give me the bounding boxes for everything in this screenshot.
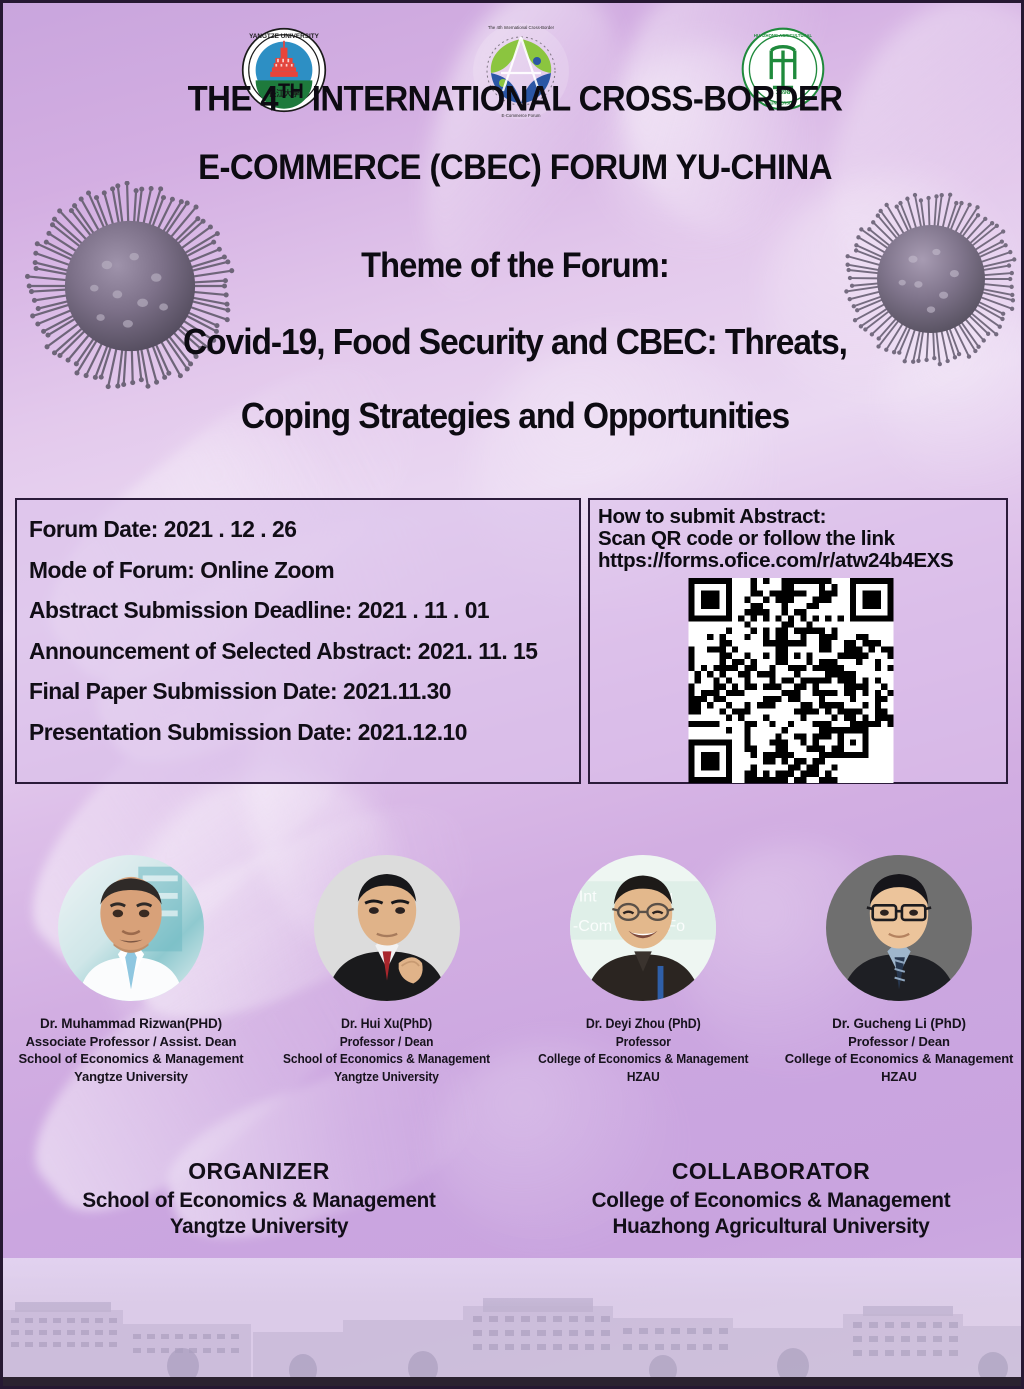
portrait-gucheng-li bbox=[826, 855, 972, 1001]
svg-text:YANGTZE UNIVERSITY: YANGTZE UNIVERSITY bbox=[249, 33, 319, 40]
organizer-collaborator-row: ORGANIZER School of Economics & Manageme… bbox=[3, 1158, 1024, 1240]
title-line-1-pre: THE 4 bbox=[188, 80, 278, 119]
speaker-name: Dr. Hui Xu(PhD) bbox=[283, 1015, 490, 1033]
speaker-bio: Dr. Deyi Zhou (PhD) Professor College of… bbox=[529, 1015, 758, 1085]
speaker-department: College of Economics & Management bbox=[785, 1050, 1014, 1067]
speaker-card: Int al -Com Fo bbox=[515, 855, 771, 1085]
bottom-strip bbox=[3, 1377, 1024, 1386]
mode-of-forum: Mode of Forum: Online Zoom bbox=[29, 559, 563, 583]
theme-block: Theme of the Forum: Covid-19, Food Secur… bbox=[3, 246, 1024, 434]
organizer-block: ORGANIZER School of Economics & Manageme… bbox=[3, 1158, 515, 1240]
submission-qr-box: How to submit Abstract: Scan QR code or … bbox=[588, 498, 1008, 784]
forum-date: Forum Date: 2021 . 12 . 26 bbox=[29, 518, 563, 542]
speaker-bio: Dr. Hui Xu(PhD) Professor / Dean School … bbox=[274, 1015, 499, 1085]
speaker-organization: HZAU bbox=[785, 1068, 1014, 1085]
campus-footer bbox=[3, 1258, 1024, 1386]
title-line-1: THE 4TH INTERNATIONAL CROSS-BORDER bbox=[34, 81, 997, 117]
title-line-1-post: INTERNATIONAL CROSS-BORDER bbox=[303, 80, 842, 119]
final-paper-submission-date: Final Paper Submission Date: 2021.11.30 bbox=[29, 680, 563, 704]
speaker-card: Dr. Gucheng Li (PhD) Professor / Dean Co… bbox=[771, 855, 1024, 1085]
speaker-role: Associate Professor / Assist. Dean bbox=[18, 1033, 243, 1050]
speakers-row: Dr. Muhammad Rizwan(PHD) Associate Profe… bbox=[3, 855, 1024, 1085]
qr-instruction-line-2: Scan QR code or follow the link bbox=[598, 528, 1006, 550]
collaborator-block: COLLABORATOR College of Economics & Mana… bbox=[515, 1158, 1024, 1240]
svg-text:Int: Int bbox=[579, 888, 597, 906]
theme-line-1: Covid-19, Food Security and CBEC: Threat… bbox=[39, 324, 991, 360]
organizer-line-2: Yangtze University bbox=[13, 1214, 505, 1240]
speaker-organization: Yangtze University bbox=[283, 1068, 490, 1085]
speaker-bio: Dr. Gucheng Li (PhD) Professor / Dean Co… bbox=[785, 1015, 1014, 1085]
svg-text:The 4th International Cross-Bo: The 4th International Cross-Border bbox=[488, 25, 555, 30]
announcement-selected-abstract: Announcement of Selected Abstract: 2021.… bbox=[29, 640, 563, 664]
theme-line-2: Coping Strategies and Opportunities bbox=[39, 398, 991, 434]
speaker-role: Professor bbox=[538, 1033, 748, 1050]
speaker-role: Professor / Dean bbox=[785, 1033, 1014, 1050]
portrait-muhammad-rizwan bbox=[58, 855, 204, 1001]
speaker-name: Dr. Muhammad Rizwan(PHD) bbox=[18, 1015, 243, 1033]
speaker-department: School of Economics & Management bbox=[283, 1050, 490, 1067]
presentation-submission-date: Presentation Submission Date: 2021.12.10 bbox=[29, 721, 563, 745]
speaker-name: Dr. Deyi Zhou (PhD) bbox=[538, 1015, 748, 1033]
title-ordinal-suffix: TH bbox=[278, 80, 303, 103]
speaker-name: Dr. Gucheng Li (PhD) bbox=[785, 1015, 1014, 1033]
collaborator-line-1: College of Economics & Management bbox=[525, 1188, 1017, 1214]
svg-text:HUAZHONG AGRICULTURAL: HUAZHONG AGRICULTURAL bbox=[754, 33, 813, 38]
footer-fade bbox=[3, 1258, 1024, 1304]
abstract-submission-deadline: Abstract Submission Deadline: 2021 . 11 … bbox=[29, 599, 563, 623]
speaker-department: College of Economics & Management bbox=[538, 1050, 748, 1067]
organizer-line-1: School of Economics & Management bbox=[13, 1188, 505, 1214]
qr-instruction-line-1: How to submit Abstract: bbox=[598, 506, 1006, 528]
speaker-organization: Yangtze University bbox=[18, 1068, 243, 1085]
qr-code-icon[interactable] bbox=[676, 578, 906, 783]
speaker-bio: Dr. Muhammad Rizwan(PHD) Associate Profe… bbox=[18, 1015, 243, 1085]
speaker-card: Dr. Hui Xu(PhD) Professor / Dean School … bbox=[259, 855, 515, 1085]
submission-link[interactable]: https://forms.ofice.com/r/atw24b4EXS bbox=[598, 550, 1006, 572]
speaker-role: Professor / Dean bbox=[283, 1033, 490, 1050]
organizer-title: ORGANIZER bbox=[3, 1158, 515, 1185]
collaborator-line-2: Huazhong Agricultural University bbox=[525, 1214, 1017, 1240]
theme-label: Theme of the Forum: bbox=[39, 246, 991, 286]
portrait-deyi-zhou: Int al -Com Fo bbox=[570, 855, 716, 1001]
speaker-department: School of Economics & Management bbox=[18, 1050, 243, 1067]
title-line-2: E-COMMERCE (CBEC) FORUM YU-CHINA bbox=[34, 150, 997, 185]
speaker-organization: HZAU bbox=[538, 1068, 748, 1085]
poster-title: THE 4TH INTERNATIONAL CROSS-BORDER E-COM… bbox=[3, 81, 1024, 185]
speaker-card: Dr. Muhammad Rizwan(PHD) Associate Profe… bbox=[3, 855, 259, 1085]
portrait-hui-xu bbox=[314, 855, 460, 1001]
collaborator-title: COLLABORATOR bbox=[515, 1158, 1024, 1185]
forum-details-box: Forum Date: 2021 . 12 . 26 Mode of Forum… bbox=[15, 498, 581, 784]
svg-text:-Com: -Com bbox=[573, 917, 612, 935]
poster-root: THE 4TH INTERNATIONAL CROSS-BORDER E-COM… bbox=[0, 0, 1024, 1389]
